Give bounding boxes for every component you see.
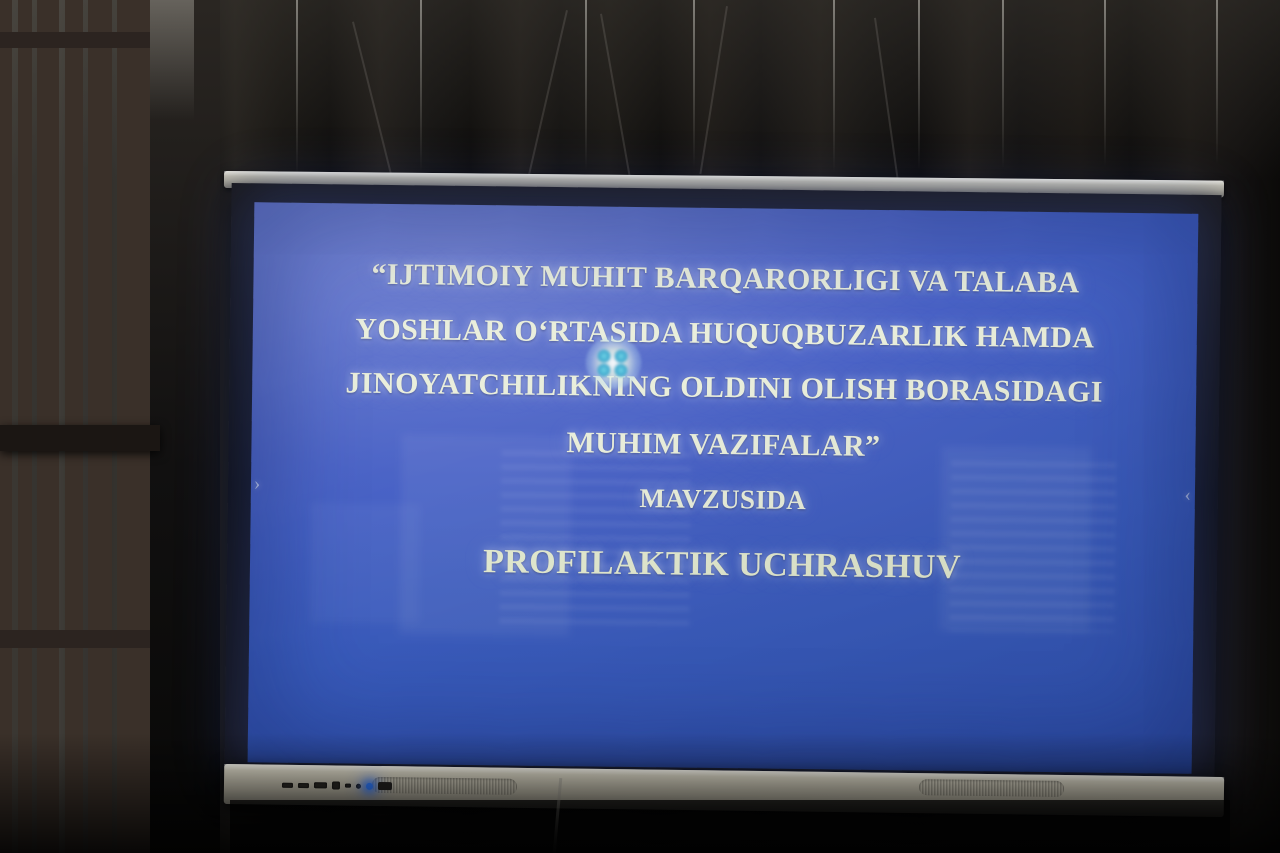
hanging-cable — [918, 0, 920, 170]
interactive-display[interactable]: “IJTIMOIY MUHIT BARQARORLIGI VA TALABA Y… — [222, 163, 1222, 813]
lens-flare-artifact — [585, 336, 642, 389]
lattice-shelf — [0, 425, 160, 451]
display-bezel: “IJTIMOIY MUHIT BARQARORLIGI VA TALABA Y… — [224, 183, 1221, 795]
doorway-background — [150, 0, 220, 853]
hanging-cable — [296, 0, 298, 176]
hanging-cable — [693, 0, 695, 168]
right-sidebar-handle-icon[interactable]: ‹ — [1184, 486, 1191, 505]
hanging-cable — [420, 0, 422, 172]
slide-content: “IJTIMOIY MUHIT BARQARORLIGI VA TALABA Y… — [248, 202, 1199, 773]
display-screen[interactable]: “IJTIMOIY MUHIT BARQARORLIGI VA TALABA Y… — [248, 202, 1199, 773]
slide-line-5: MAVZUSIDA — [639, 485, 806, 515]
slide-line-1: “IJTIMOIY MUHIT BARQARORLIGI VA TALABA — [371, 260, 1079, 299]
hanging-cable — [1002, 0, 1004, 168]
hanging-cable — [585, 0, 587, 170]
slide-line-2: YOSHLAR O‘RTASIDA HUQUQBUZARLIK HAMDA — [355, 314, 1094, 354]
slide-line-4: MUHIM VAZIFALAR” — [566, 428, 880, 462]
hanging-cable — [1104, 0, 1106, 166]
slide-line-3: JINOYATCHILIKNING OLDINI OLISH BORASIDAG… — [345, 369, 1103, 409]
slide-line-6: PROFILAKTIK UCHRASHUV — [483, 545, 961, 586]
doorway-highlight — [150, 0, 194, 120]
photo-scene: “IJTIMOIY MUHIT BARQARORLIGI VA TALABA Y… — [0, 0, 1280, 853]
hanging-cable — [1216, 0, 1218, 164]
floor-shadow — [0, 733, 1280, 853]
left-sidebar-handle-icon[interactable]: › — [254, 474, 261, 493]
hanging-cable — [833, 0, 835, 172]
